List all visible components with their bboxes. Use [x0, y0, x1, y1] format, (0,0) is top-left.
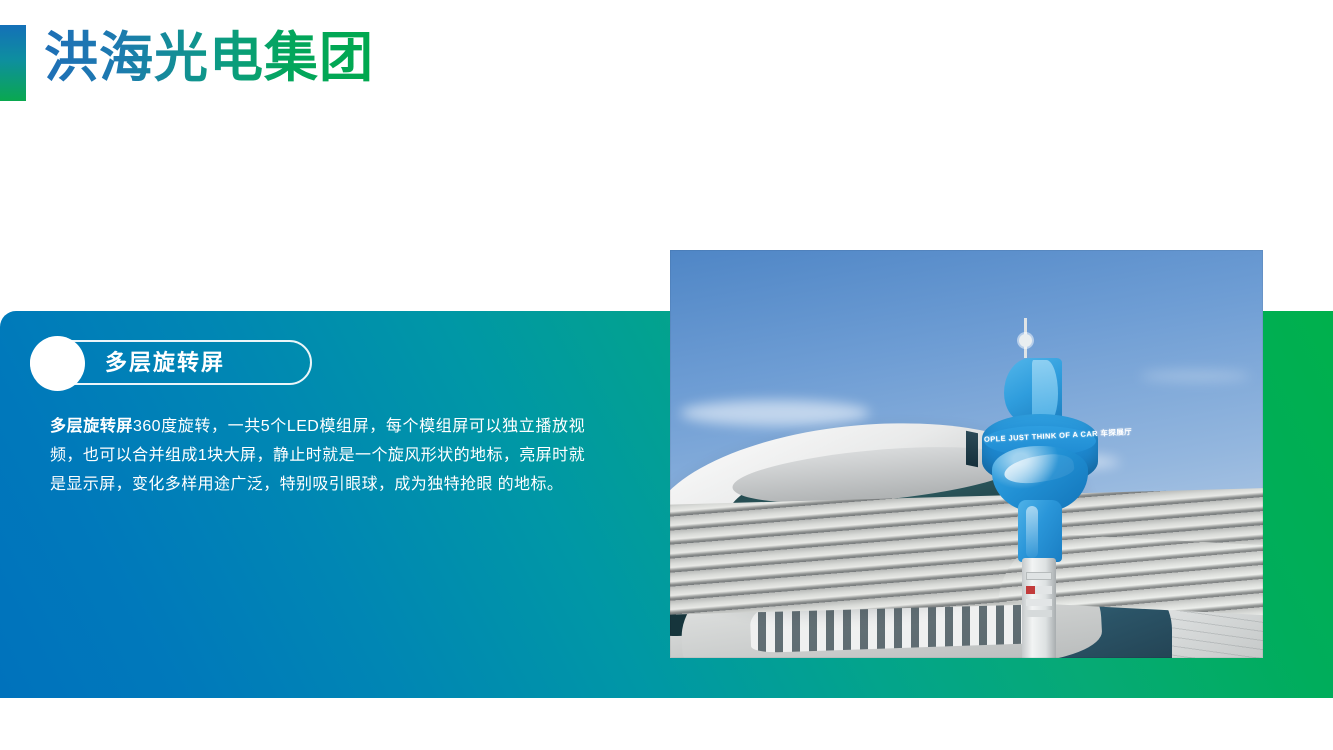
badge-circle-icon [30, 336, 85, 391]
tower-mast-ball [1019, 334, 1032, 347]
tower-blade-upper-highlight [1032, 360, 1058, 422]
slide-header: 洪海光电集团 [0, 0, 1333, 120]
photo-rotating-led-tower: OPLE JUST THINK OF A CAR 车探展厅 [970, 310, 1110, 658]
header-accent-bar [0, 25, 26, 101]
tower-lower-module-highlight [1026, 506, 1038, 558]
body-lead-term: 多层旋转屏 [50, 418, 133, 435]
slide-root: 洪海光电集团 多层旋转屏 多层旋转屏360度旋转，一共5个LED模组屏，每个模组… [0, 0, 1333, 750]
tower-side-panel [966, 431, 978, 468]
tower-column-plate [1026, 599, 1052, 606]
landmark-photo: 2 号馆 观众出入口 OPLE JUST THINK OF A CAR 车探展厅 [670, 250, 1263, 658]
tower-column-plate [1026, 586, 1052, 594]
company-title: 洪海光电集团 [44, 28, 374, 88]
photo-cloud [680, 400, 870, 426]
tower-lower-module [1018, 500, 1062, 562]
body-paragraph: 多层旋转屏360度旋转，一共5个LED模组屏，每个模组屏可以独立播放视频，也可以… [50, 412, 585, 499]
badge-label: 多层旋转屏 [105, 349, 225, 377]
section-badge[interactable]: 多层旋转屏 [30, 340, 314, 387]
tower-column-plate [1026, 572, 1052, 580]
tower-column-plate [1026, 610, 1052, 617]
photo-cloud [1140, 370, 1250, 382]
